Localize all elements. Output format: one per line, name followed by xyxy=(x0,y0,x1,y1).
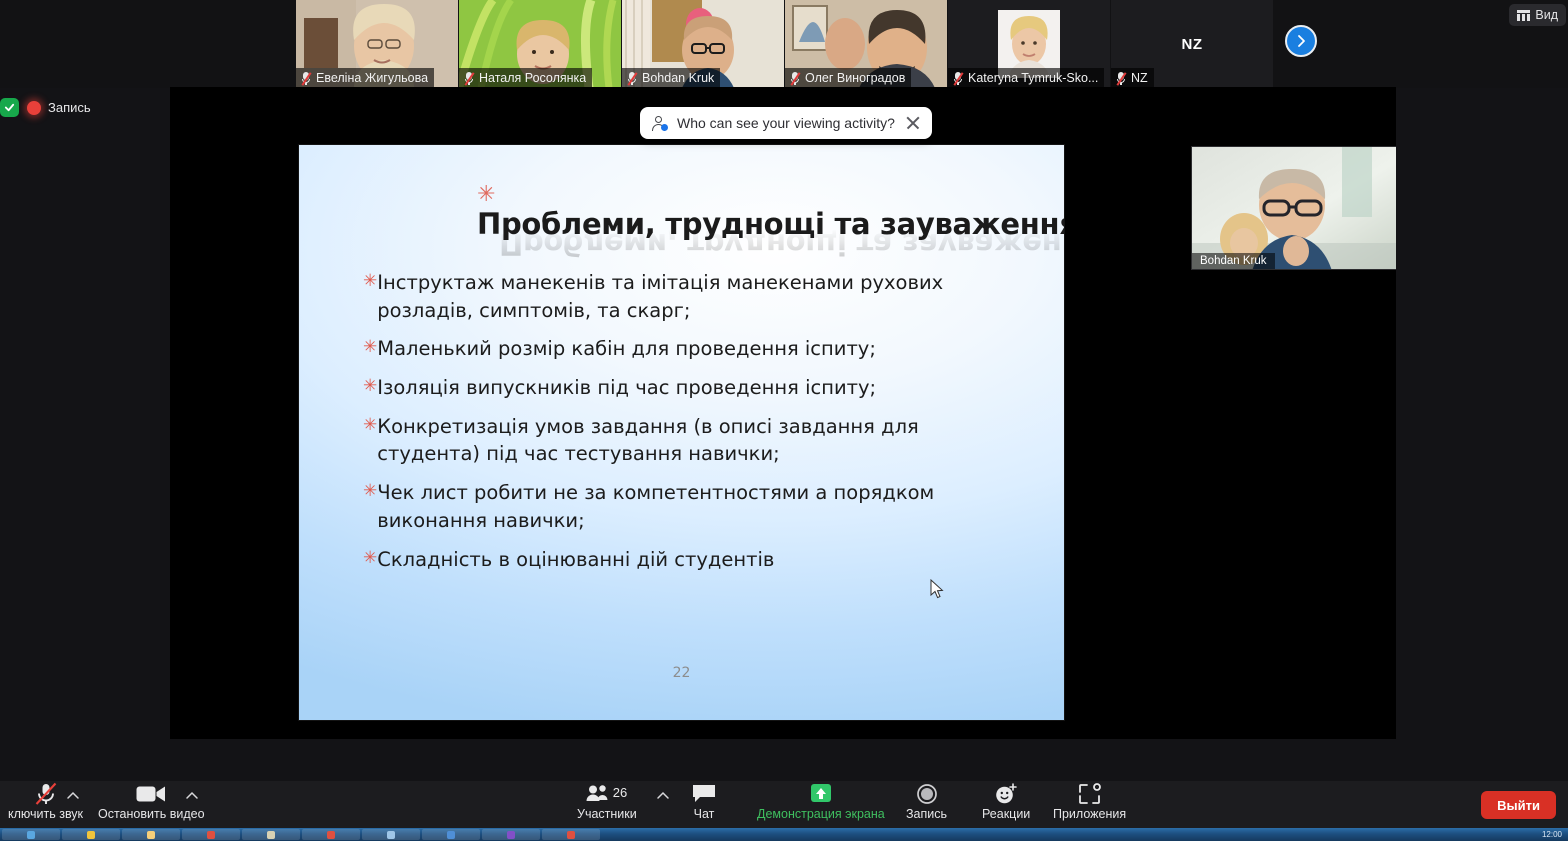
mouse-cursor xyxy=(930,579,944,599)
chat-icon xyxy=(692,783,716,805)
avatar-initials: NZ xyxy=(1182,36,1203,53)
chevron-up-icon xyxy=(185,789,199,803)
slide-title-star-icon: ✳ xyxy=(477,181,495,206)
host-taskbar-item[interactable] xyxy=(362,829,420,840)
slide-bullet-text: Ізоляція випускників під час проведення … xyxy=(377,374,876,402)
host-taskbar-item[interactable] xyxy=(422,829,480,840)
apps-label: Приложения xyxy=(1053,807,1126,821)
bullet-star-icon: ✳ xyxy=(363,482,377,499)
microphone-muted-icon xyxy=(952,71,964,85)
reactions-icon xyxy=(994,783,1018,805)
participants-button[interactable]: 26 Участники xyxy=(577,783,637,821)
host-taskbar-item[interactable] xyxy=(542,829,600,840)
mute-options-caret[interactable] xyxy=(66,789,80,803)
participant-name-bar: Kateryna Tymruk-Sko... xyxy=(948,68,1104,88)
participants-count: 26 xyxy=(613,785,627,800)
participant-name-bar: Евеліна Жигульова xyxy=(296,68,434,88)
microphone-muted-icon xyxy=(300,71,312,85)
mute-label: ключить звук xyxy=(8,807,83,821)
host-taskbar-item[interactable] xyxy=(62,829,120,840)
zoom-meeting-window: Евеліна Жигульова Наталя Росолянка Bohda… xyxy=(0,0,1568,841)
slide-bullet-item: ✳Ізоляція випускників під час проведення… xyxy=(363,374,1003,402)
presentation-slide: ✳ Проблеми, труднощі та зауваження! Проб… xyxy=(299,145,1064,720)
slide-bullet-text: Маленький розмір кабін для проведення іс… xyxy=(377,335,876,363)
host-taskbar-item[interactable] xyxy=(242,829,300,840)
participant-tile[interactable]: Bohdan Kruk xyxy=(622,0,784,88)
participant-name: Наталя Росолянка xyxy=(479,71,586,85)
participants-label: Участники xyxy=(577,807,637,821)
record-label: Запись xyxy=(906,807,947,821)
person-activity-icon xyxy=(652,115,668,131)
participant-name-bar: Наталя Росолянка xyxy=(459,68,592,88)
filmstrip-tiles: Евеліна Жигульова Наталя Росолянка Bohda… xyxy=(296,0,1274,88)
view-button-label: Вид xyxy=(1535,8,1558,22)
host-taskbar-item[interactable] xyxy=(2,829,60,840)
share-screen-label: Демонстрация экрана xyxy=(757,807,885,821)
slide-bullet-text: Інструктаж манекенів та імітація манекен… xyxy=(377,269,1003,324)
video-options-caret[interactable] xyxy=(185,789,199,803)
record-button[interactable]: Запись xyxy=(906,783,947,821)
apps-icon xyxy=(1078,783,1102,805)
record-dot-icon xyxy=(27,101,41,115)
participant-tile[interactable]: Евеліна Жигульова xyxy=(296,0,458,88)
bullet-star-icon: ✳ xyxy=(363,338,377,355)
participant-name-bar: NZ xyxy=(1111,68,1154,88)
chat-button[interactable]: Чат xyxy=(692,783,716,821)
participant-name: Олег Виноградов xyxy=(805,71,905,85)
slide-bullet-item: ✳Чек лист робити не за компетентностями … xyxy=(363,479,1003,534)
slide-bullet-item: ✳Інструктаж манекенів та імітація манеке… xyxy=(363,269,1003,324)
participant-tile[interactable]: Олег Виноградов xyxy=(785,0,947,88)
viewing-activity-notification[interactable]: Who can see your viewing activity? xyxy=(640,107,932,139)
shared-screen-area: ✳ Проблеми, труднощі та зауваження! Проб… xyxy=(170,87,1396,739)
participant-name-bar: Олег Виноградов xyxy=(785,68,911,88)
host-clock: 12:00 xyxy=(1542,830,1568,839)
slide-bullet-text: Складність в оцінюванні дій студентів xyxy=(377,546,774,574)
microphone-muted-icon xyxy=(35,783,57,805)
participant-filmstrip: Евеліна Жигульова Наталя Росолянка Bohda… xyxy=(0,0,1568,88)
grid-icon xyxy=(1517,10,1530,21)
participant-tile[interactable]: NZ NZ xyxy=(1111,0,1273,88)
recording-chip[interactable]: Запись xyxy=(27,100,91,115)
page-title: Проблеми, труднощі та зауваження! xyxy=(477,207,1064,241)
slide-bullet-list: ✳Інструктаж манекенів та імітація манеке… xyxy=(363,269,1003,584)
participant-tile[interactable]: Kateryna Tymruk-Sko... xyxy=(948,0,1110,88)
camera-icon xyxy=(136,783,166,805)
host-taskbar-strip: 12:00 xyxy=(0,828,1568,841)
slide-bullet-text: Конкретизація умов завдання (в описі зав… xyxy=(377,413,1003,468)
leave-button[interactable]: Выйти xyxy=(1481,791,1556,819)
close-icon[interactable] xyxy=(904,114,922,132)
host-taskbar-item[interactable] xyxy=(182,829,240,840)
participant-name-bar: Bohdan Kruk xyxy=(622,68,720,88)
view-button[interactable]: Вид xyxy=(1509,4,1566,26)
slide-bullet-item: ✳Маленький розмір кабін для проведення і… xyxy=(363,335,1003,363)
self-view-tile[interactable]: Bohdan Kruk xyxy=(1191,146,1396,270)
chevron-up-icon xyxy=(656,789,670,803)
bullet-star-icon: ✳ xyxy=(363,416,377,433)
participant-name: Bohdan Kruk xyxy=(642,71,714,85)
self-view-name: Bohdan Kruk xyxy=(1192,253,1275,269)
chevron-right-icon xyxy=(1294,34,1308,48)
participant-name: Евеліна Жигульова xyxy=(316,71,428,85)
reactions-label: Реакции xyxy=(982,807,1030,821)
reactions-button[interactable]: Реакции xyxy=(982,783,1030,821)
zoom-toolbar: ключить звук Остановить видео 26 xyxy=(0,781,1568,828)
stop-video-label: Остановить видео xyxy=(98,807,205,821)
slide-page-number: 22 xyxy=(299,665,1064,681)
slide-bullet-text: Чек лист робити не за компетентностями а… xyxy=(377,479,1003,534)
participant-tile[interactable]: Наталя Росолянка xyxy=(459,0,621,88)
chat-label: Чат xyxy=(694,807,715,821)
bullet-star-icon: ✳ xyxy=(363,377,377,394)
participant-name: NZ xyxy=(1131,71,1148,85)
bullet-star-icon: ✳ xyxy=(363,549,377,566)
participants-icon: 26 xyxy=(585,783,629,805)
apps-button[interactable]: Приложения xyxy=(1053,783,1126,821)
microphone-muted-icon xyxy=(463,71,475,85)
record-icon xyxy=(916,783,938,805)
filmstrip-next-button[interactable] xyxy=(1285,25,1317,57)
recording-label: Запись xyxy=(48,100,91,115)
chevron-up-icon xyxy=(66,789,80,803)
shield-check-icon xyxy=(0,98,19,117)
self-view-video xyxy=(1192,147,1396,270)
participants-caret[interactable] xyxy=(656,789,670,803)
share-screen-button[interactable]: Демонстрация экрана xyxy=(757,783,885,821)
slide-title-block: ✳ Проблеми, труднощі та зауваження! Проб… xyxy=(477,181,1047,241)
participant-name: Kateryna Tymruk-Sko... xyxy=(968,71,1098,85)
microphone-muted-icon xyxy=(1115,71,1127,85)
slide-bullet-item: ✳ Конкретизація умов завдання (в описі з… xyxy=(363,413,1003,468)
host-taskbar-item[interactable] xyxy=(482,829,540,840)
recording-indicator[interactable]: Запись xyxy=(0,98,91,117)
microphone-muted-icon xyxy=(789,71,801,85)
host-taskbar-item[interactable] xyxy=(302,829,360,840)
share-screen-icon xyxy=(808,783,834,805)
microphone-muted-icon xyxy=(626,71,638,85)
bullet-star-icon: ✳ xyxy=(363,272,377,289)
host-taskbar-item[interactable] xyxy=(122,829,180,840)
slide-bullet-item: ✳Складність в оцінюванні дій студентів xyxy=(363,546,1003,574)
notification-text: Who can see your viewing activity? xyxy=(677,115,895,131)
